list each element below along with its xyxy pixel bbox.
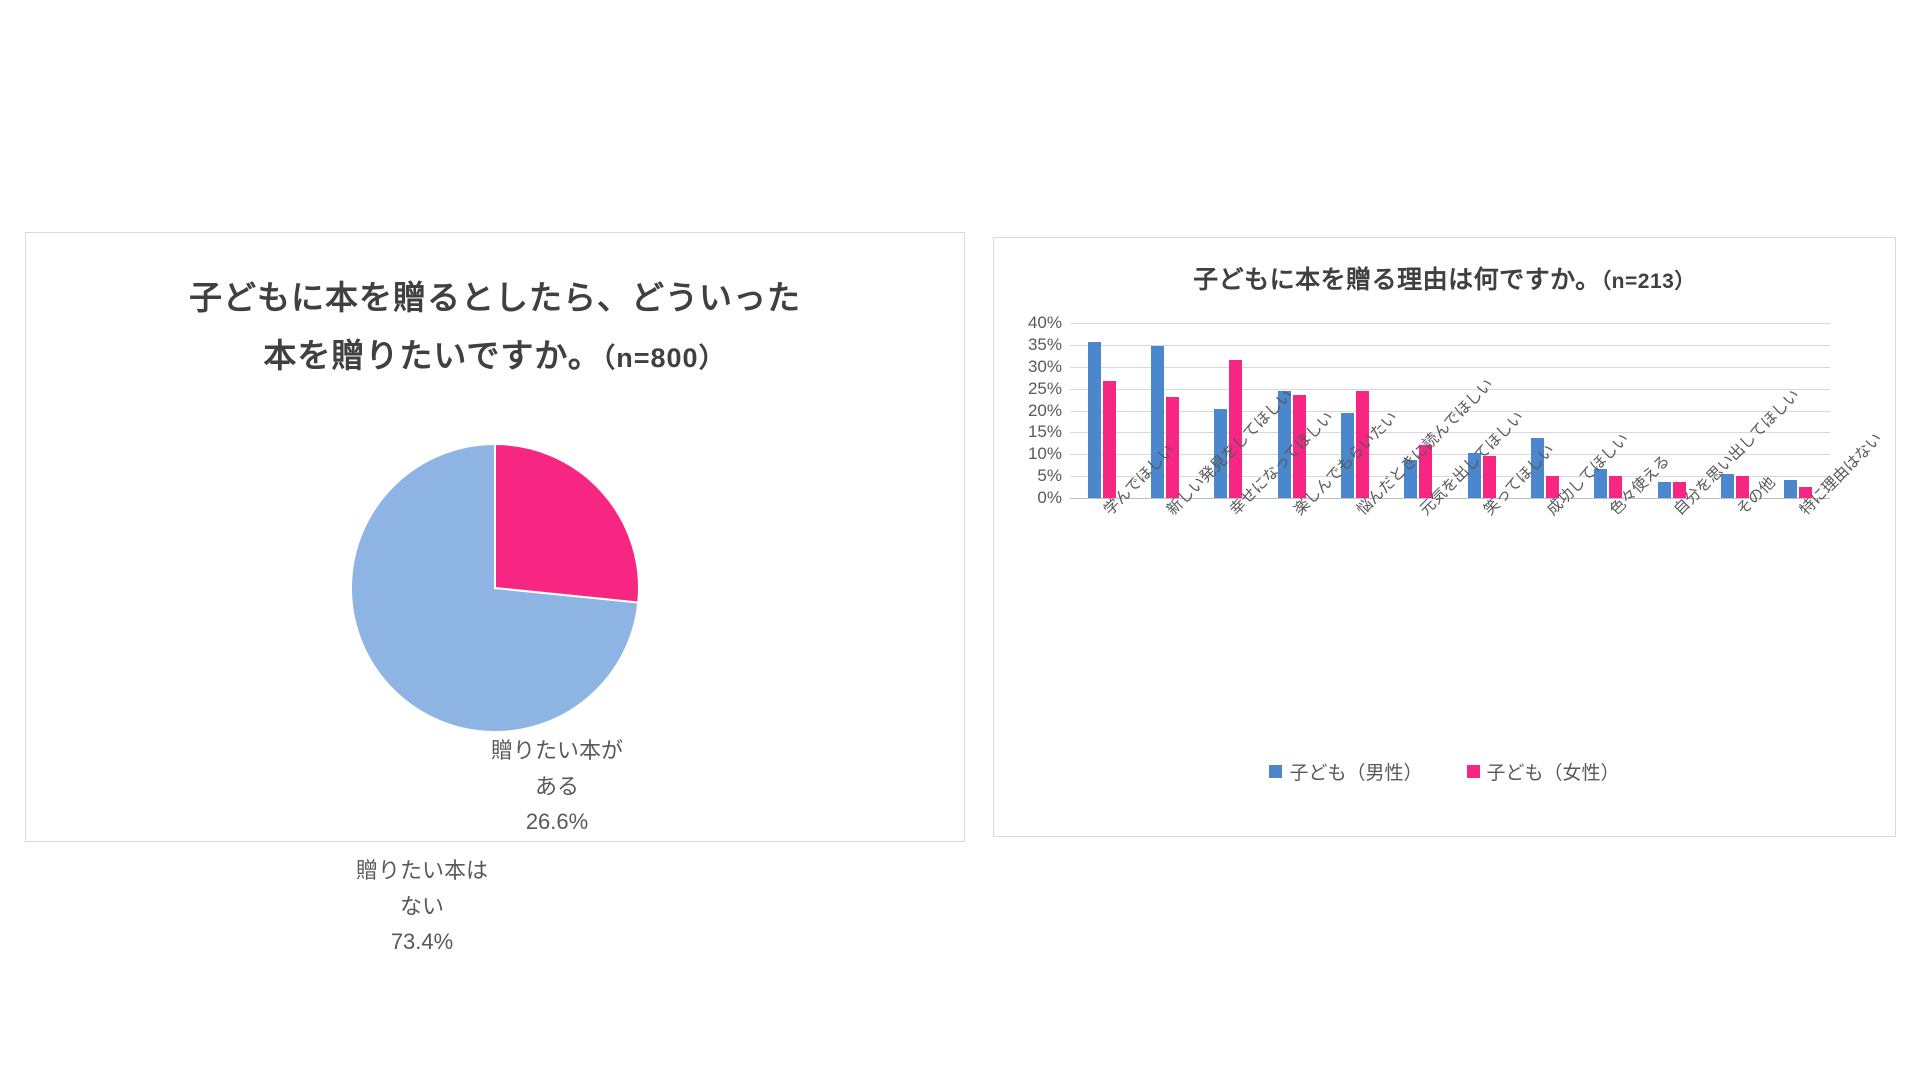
bar-female[interactable] — [1103, 381, 1116, 498]
y-axis-labels: 0%5%10%15%20%25%30%35%40% — [994, 317, 1066, 505]
bar-male[interactable] — [1088, 342, 1101, 498]
legend-swatch-icon — [1467, 765, 1480, 778]
pie-title-line-2-text: 本を贈りたいですか。 — [263, 337, 601, 374]
x-axis-labels: 学んでほしい新しい発見をしてほしい幸せになってほしい楽しんでもらいたい悩んだとき… — [1070, 500, 1830, 680]
pie-title-line-2: 本を贈りたいですか。（n=800） — [26, 327, 964, 385]
pie-label-yes: 贈りたい本が ある 26.6% — [491, 733, 623, 840]
pie-chart-graphic — [350, 443, 640, 733]
pie-label-no: 贈りたい本は ない 73.4% — [356, 853, 488, 960]
bar-male[interactable] — [1784, 480, 1797, 498]
legend-label: 子ども（男性） — [1289, 758, 1422, 785]
pie-title-sample-size: （n=800） — [602, 343, 727, 373]
pie-label-no-value: 73.4% — [356, 924, 488, 960]
legend-label: 子ども（女性） — [1487, 758, 1620, 785]
y-axis-tick-35: 35% — [1028, 335, 1062, 355]
screenshot-stage: 子どもに本を贈るとしたら、どういった 本を贈りたいですか。（n=800） 贈りた… — [0, 0, 1920, 1080]
pie-chart-title: 子どもに本を贈るとしたら、どういった 本を贈りたいですか。（n=800） — [26, 269, 964, 385]
y-axis-tick-10: 10% — [1028, 444, 1062, 464]
bar-chart-legend: 子ども（男性）子ども（女性） — [994, 758, 1895, 785]
pie-label-yes-value: 26.6% — [491, 804, 623, 840]
pie-label-no-text: 贈りたい本は — [356, 853, 488, 889]
y-axis-tick-15: 15% — [1028, 422, 1062, 442]
y-axis-tick-20: 20% — [1028, 401, 1062, 421]
pie-svg — [350, 443, 640, 733]
bar-chart-panel: 子どもに本を贈る理由は何ですか。（n=213） 0%5%10%15%20%25%… — [993, 237, 1896, 837]
bar-title-sample-size: （n=213） — [1601, 270, 1696, 293]
legend-swatch-icon — [1269, 765, 1282, 778]
pie-label-yes-text2: ある — [491, 769, 623, 805]
legend-item-female[interactable]: 子ども（女性） — [1467, 758, 1620, 785]
pie-title-line-1: 子どもに本を贈るとしたら、どういった — [26, 269, 964, 327]
pie-label-yes-text: 贈りたい本が — [491, 733, 623, 769]
y-axis-tick-30: 30% — [1028, 357, 1062, 377]
pie-chart-panel: 子どもに本を贈るとしたら、どういった 本を贈りたいですか。（n=800） 贈りた… — [25, 232, 965, 842]
pie-slice-yes — [495, 444, 639, 602]
bar-chart-title: 子どもに本を贈る理由は何ですか。（n=213） — [994, 260, 1895, 296]
y-axis-tick-40: 40% — [1028, 313, 1062, 333]
y-axis-tick-0: 0% — [1037, 488, 1062, 508]
bar-male[interactable] — [1658, 482, 1671, 498]
y-axis-tick-25: 25% — [1028, 379, 1062, 399]
bar-group — [1070, 323, 1133, 498]
legend-item-male[interactable]: 子ども（男性） — [1269, 758, 1422, 785]
bar-title-text: 子どもに本を贈る理由は何ですか。 — [1193, 266, 1601, 294]
pie-label-no-text2: ない — [356, 889, 488, 925]
y-axis-tick-5: 5% — [1037, 466, 1062, 486]
